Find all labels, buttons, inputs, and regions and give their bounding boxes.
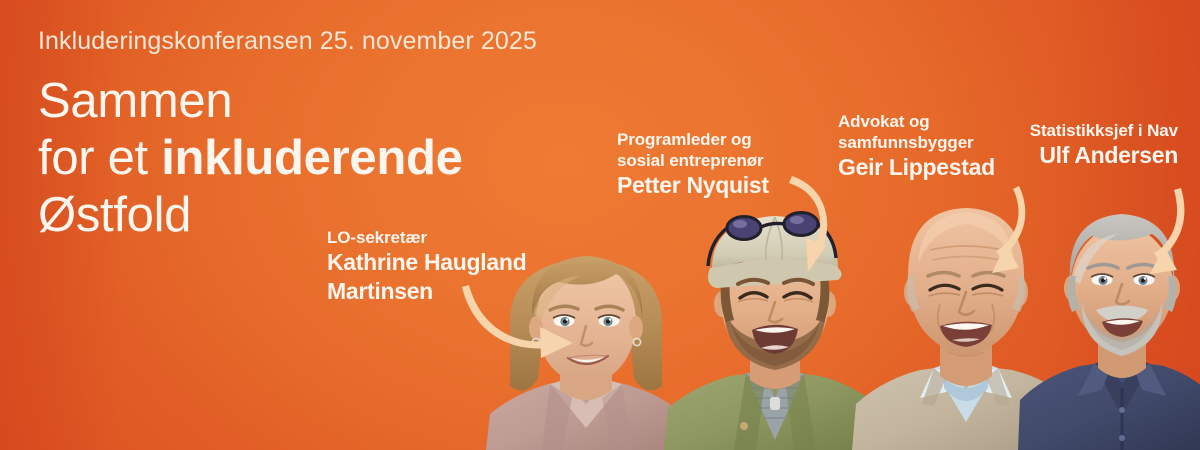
headline-line-2: for et inkluderende xyxy=(38,130,537,187)
speaker-role-kathrine: LO-sekretær xyxy=(327,227,526,248)
headline-line-2-strong: inkluderende xyxy=(161,131,462,185)
speaker-name-kathrine-line-1: Kathrine Haugland xyxy=(327,248,526,277)
speaker-name-petter: Petter Nyquist xyxy=(617,171,769,200)
inclusion-conference-banner: Inkluderingskonferansen 25. november 202… xyxy=(0,0,1200,450)
speaker-caption-kathrine: LO-sekretær Kathrine Haugland Martinsen xyxy=(327,227,526,305)
speaker-caption-ulf: Statistikksjef i Nav Ulf Andersen xyxy=(1030,120,1178,170)
speaker-role-ulf: Statistikksjef i Nav xyxy=(1030,120,1178,141)
headline-line-2-plain: for et xyxy=(38,131,161,185)
speaker-role-petter-line-1: Programleder og xyxy=(617,129,769,150)
speaker-role-petter-line-2: sosial entreprenør xyxy=(617,150,769,171)
speaker-caption-geir: Advokat og samfunnsbygger Geir Lippestad xyxy=(838,111,995,182)
speaker-role-geir-line-2: samfunnsbygger xyxy=(838,132,995,153)
headline-block: Inkluderingskonferansen 25. november 202… xyxy=(38,28,537,244)
speaker-name-geir: Geir Lippestad xyxy=(838,153,995,182)
page-title: Sammen for et inkluderende Østfold xyxy=(38,73,537,245)
speaker-name-kathrine-line-2: Martinsen xyxy=(327,277,526,306)
headline-line-1: Sammen xyxy=(38,73,537,130)
portrait-ulf-andersen xyxy=(1018,188,1200,450)
speaker-caption-petter: Programleder og sosial entreprenør Pette… xyxy=(617,129,769,200)
speaker-role-geir-line-1: Advokat og xyxy=(838,111,995,132)
speaker-name-ulf: Ulf Andersen xyxy=(1030,141,1178,170)
event-eyebrow: Inkluderingskonferansen 25. november 202… xyxy=(38,28,537,56)
